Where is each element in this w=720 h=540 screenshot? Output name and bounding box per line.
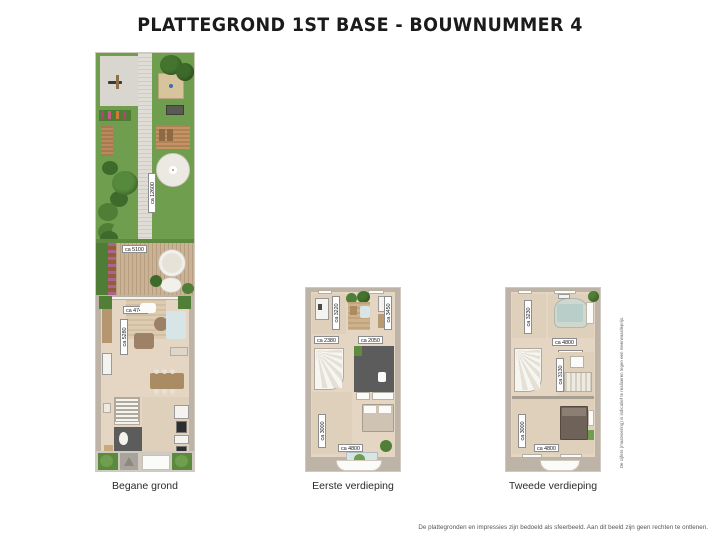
dimension-label: ca 4800 <box>552 338 577 346</box>
wardrobe-detail <box>318 304 322 310</box>
bush-icon <box>380 440 392 452</box>
stair-treads <box>516 350 540 390</box>
storage-rack <box>564 372 592 392</box>
garden-bench <box>108 81 122 84</box>
glass-partition <box>166 311 186 339</box>
lounge-chair-seat <box>162 253 182 273</box>
ground-floor-drawing: ca 12600 ca 5100 <box>95 52 195 472</box>
dimension-label: ca 2050 <box>358 336 383 344</box>
wardrobe <box>586 302 594 324</box>
pillow <box>562 408 586 416</box>
kitchen-unit <box>174 405 189 419</box>
front-entrance <box>142 455 170 470</box>
garden-box <box>166 105 184 115</box>
flower-border <box>108 243 116 295</box>
planter <box>178 296 191 309</box>
dining-chair <box>154 369 159 374</box>
bush-icon <box>100 455 113 467</box>
dimension-label: ca 2380 <box>314 336 339 344</box>
sandbox-detail <box>169 84 173 88</box>
flower <box>101 111 104 119</box>
dining-chair <box>154 389 159 394</box>
dimension-label: ca 4800 <box>534 444 559 452</box>
garden-post <box>116 75 119 89</box>
balcony-table <box>360 306 370 318</box>
plant-icon <box>588 430 594 440</box>
flower <box>123 111 126 119</box>
bush-icon <box>182 283 194 294</box>
toilet-fixture <box>378 372 386 382</box>
dimension-label: ca 3230 <box>524 300 532 334</box>
plan-ground-floor[interactable]: ca 12600 ca 5100 <box>95 52 195 472</box>
dimension-label: ca 3130 <box>556 358 564 392</box>
wood-deck <box>101 126 113 156</box>
washbasin <box>356 392 370 400</box>
front-canopy <box>336 460 382 471</box>
parasol-pole <box>172 169 174 171</box>
second-floor-drawing: ca 3230 ca 4800 ca 2350 ca 3130 ca 3000 <box>505 287 601 472</box>
window <box>368 290 384 294</box>
balcony-chair <box>350 306 357 315</box>
plan-first-floor[interactable]: ca 3220 ca 3450 ca 2380 ca 2050 ca 3 <box>305 287 401 472</box>
appliance <box>570 356 584 368</box>
flower <box>116 111 119 119</box>
pillow <box>364 406 376 413</box>
dimension-label: ca 3000 <box>318 414 326 448</box>
garden-furniture <box>167 129 173 141</box>
dining-chair <box>162 369 167 374</box>
lounge-chair <box>160 277 182 293</box>
dimension-label: ca 3220 <box>332 296 340 330</box>
side-planting <box>96 243 108 295</box>
stair-step <box>115 418 139 422</box>
coffee-table <box>140 303 156 313</box>
window <box>560 454 582 458</box>
sofa <box>134 333 154 349</box>
page-title: PLATTEGROND 1ST BASE - BOUWNUMMER 4 <box>29 14 691 36</box>
side-disclaimer: De cijfers (maatvoering) is indicatief t… <box>619 316 624 468</box>
first-floor-drawing: ca 3220 ca 3450 ca 2380 ca 2050 ca 3 <box>305 287 401 472</box>
built-in-cabinet <box>102 309 112 343</box>
plan-caption-second: Tweede verdieping <box>505 480 601 492</box>
dimension-label: ca 12600 <box>148 173 156 213</box>
dimension-label: ca 5100 <box>122 245 147 253</box>
planter <box>99 296 112 309</box>
front-canopy <box>540 460 580 471</box>
washbasin <box>372 392 394 400</box>
dining-chair <box>170 369 175 374</box>
partition-wall <box>512 396 594 399</box>
tree-icon <box>112 171 138 195</box>
garden-doors <box>101 296 189 300</box>
meter-cupboard <box>103 403 111 413</box>
pillow <box>379 406 391 413</box>
headboard-shelf <box>558 294 570 299</box>
footer-disclaimer: De plattegronden en impressies zijn bedo… <box>418 524 708 531</box>
dining-chair <box>162 389 167 394</box>
bush-icon <box>175 455 188 467</box>
bush-icon <box>98 203 118 221</box>
dining-table <box>150 373 184 389</box>
plant-icon <box>354 346 362 356</box>
window <box>522 454 542 458</box>
tree-icon <box>176 63 194 81</box>
dimension-label: ca 4800 <box>338 444 363 452</box>
plant-icon <box>588 291 599 302</box>
oven <box>176 421 187 433</box>
flower <box>108 111 111 119</box>
toilet-fixture <box>119 432 128 445</box>
stair-treads <box>316 350 342 388</box>
dimension-label: ca 5280 <box>120 319 128 355</box>
plan-caption-ground: Begane grond <box>95 480 195 492</box>
nightstand <box>588 410 594 426</box>
kitchen-unit <box>174 435 189 444</box>
built-in-cabinet <box>102 353 112 375</box>
bed-cover <box>557 304 583 322</box>
plan-second-floor[interactable]: ca 3230 ca 4800 ca 2350 ca 3130 ca 3000 <box>505 287 601 472</box>
dimension-label: ca 3450 <box>384 296 392 330</box>
bush-icon <box>150 275 162 287</box>
dining-chair <box>170 389 175 394</box>
dimension-label: ca 3000 <box>518 414 526 448</box>
sideboard <box>170 347 188 356</box>
garden-furniture <box>159 129 165 141</box>
plan-caption-first: Eerste verdieping <box>305 480 401 492</box>
floorplan-page: PLATTEGROND 1ST BASE - BOUWNUMMER 4 <box>0 0 720 540</box>
